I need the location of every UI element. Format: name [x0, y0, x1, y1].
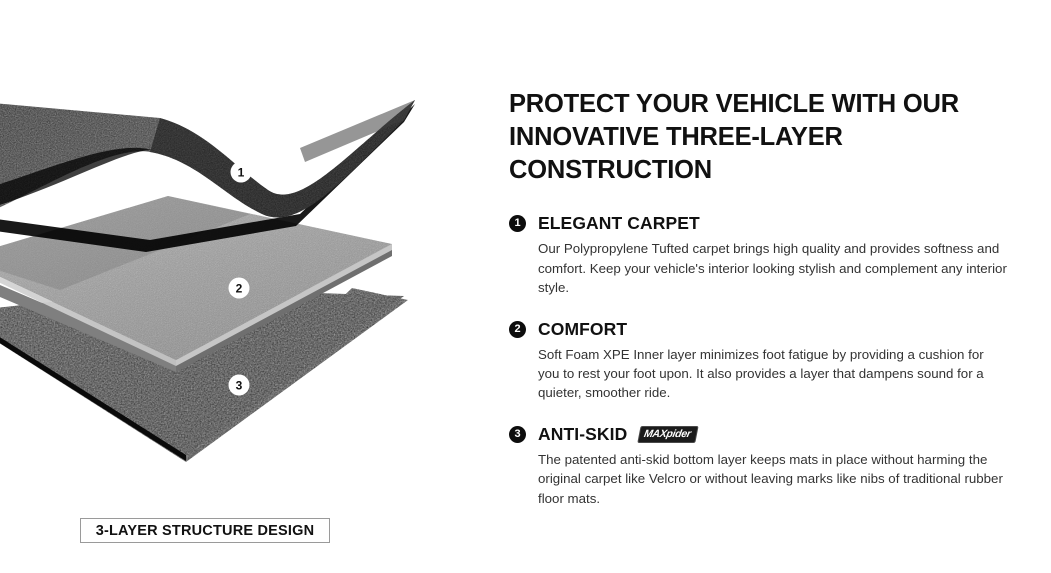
feature-description: Our Polypropylene Tufted carpet brings h…: [538, 239, 1008, 297]
feature-description: Soft Foam XPE Inner layer minimizes foot…: [538, 345, 1008, 403]
feature-item-comfort: 2 COMFORT Soft Foam XPE Inner layer mini…: [509, 319, 1021, 403]
content-column: PROTECT YOUR VEHICLE WITH OUR INNOVATIVE…: [509, 88, 1021, 508]
structure-design-caption: 3-LAYER STRUCTURE DESIGN: [80, 518, 330, 543]
product-layer-illustration: 1 2 3: [0, 0, 470, 490]
feature-title: COMFORT: [538, 319, 627, 340]
illustration-marker-2: 2: [229, 278, 250, 299]
maxpider-brand-logo: MAXpider: [638, 426, 699, 443]
feature-title: ANTI-SKID: [538, 424, 627, 445]
feature-number-badge: 3: [509, 426, 526, 443]
illustration-marker-1: 1: [231, 162, 252, 183]
feature-item-carpet: 1 ELEGANT CARPET Our Polypropylene Tufte…: [509, 213, 1021, 297]
caption-label: 3-LAYER STRUCTURE DESIGN: [96, 523, 315, 539]
feature-header: 1 ELEGANT CARPET: [509, 213, 1021, 234]
illustration-marker-3: 3: [229, 375, 250, 396]
feature-description: The patented anti-skid bottom layer keep…: [538, 450, 1008, 508]
page-title: PROTECT YOUR VEHICLE WITH OUR INNOVATIVE…: [509, 88, 1021, 187]
svg-text:2: 2: [236, 282, 243, 296]
feature-number-badge: 2: [509, 321, 526, 338]
brand-logo-text: MAXpider: [643, 429, 692, 440]
feature-number-badge: 1: [509, 215, 526, 232]
feature-item-anti-skid: 3 ANTI-SKID MAXpider The patented anti-s…: [509, 424, 1021, 508]
svg-text:1: 1: [238, 166, 245, 180]
svg-text:3: 3: [236, 379, 243, 393]
headline-line-1: PROTECT YOUR VEHICLE WITH OUR: [509, 88, 1021, 121]
feature-title: ELEGANT CARPET: [538, 213, 700, 234]
feature-header: 3 ANTI-SKID MAXpider: [509, 424, 1021, 445]
feature-header: 2 COMFORT: [509, 319, 1021, 340]
headline-line-2: INNOVATIVE THREE-LAYER CONSTRUCTION: [509, 121, 1021, 187]
